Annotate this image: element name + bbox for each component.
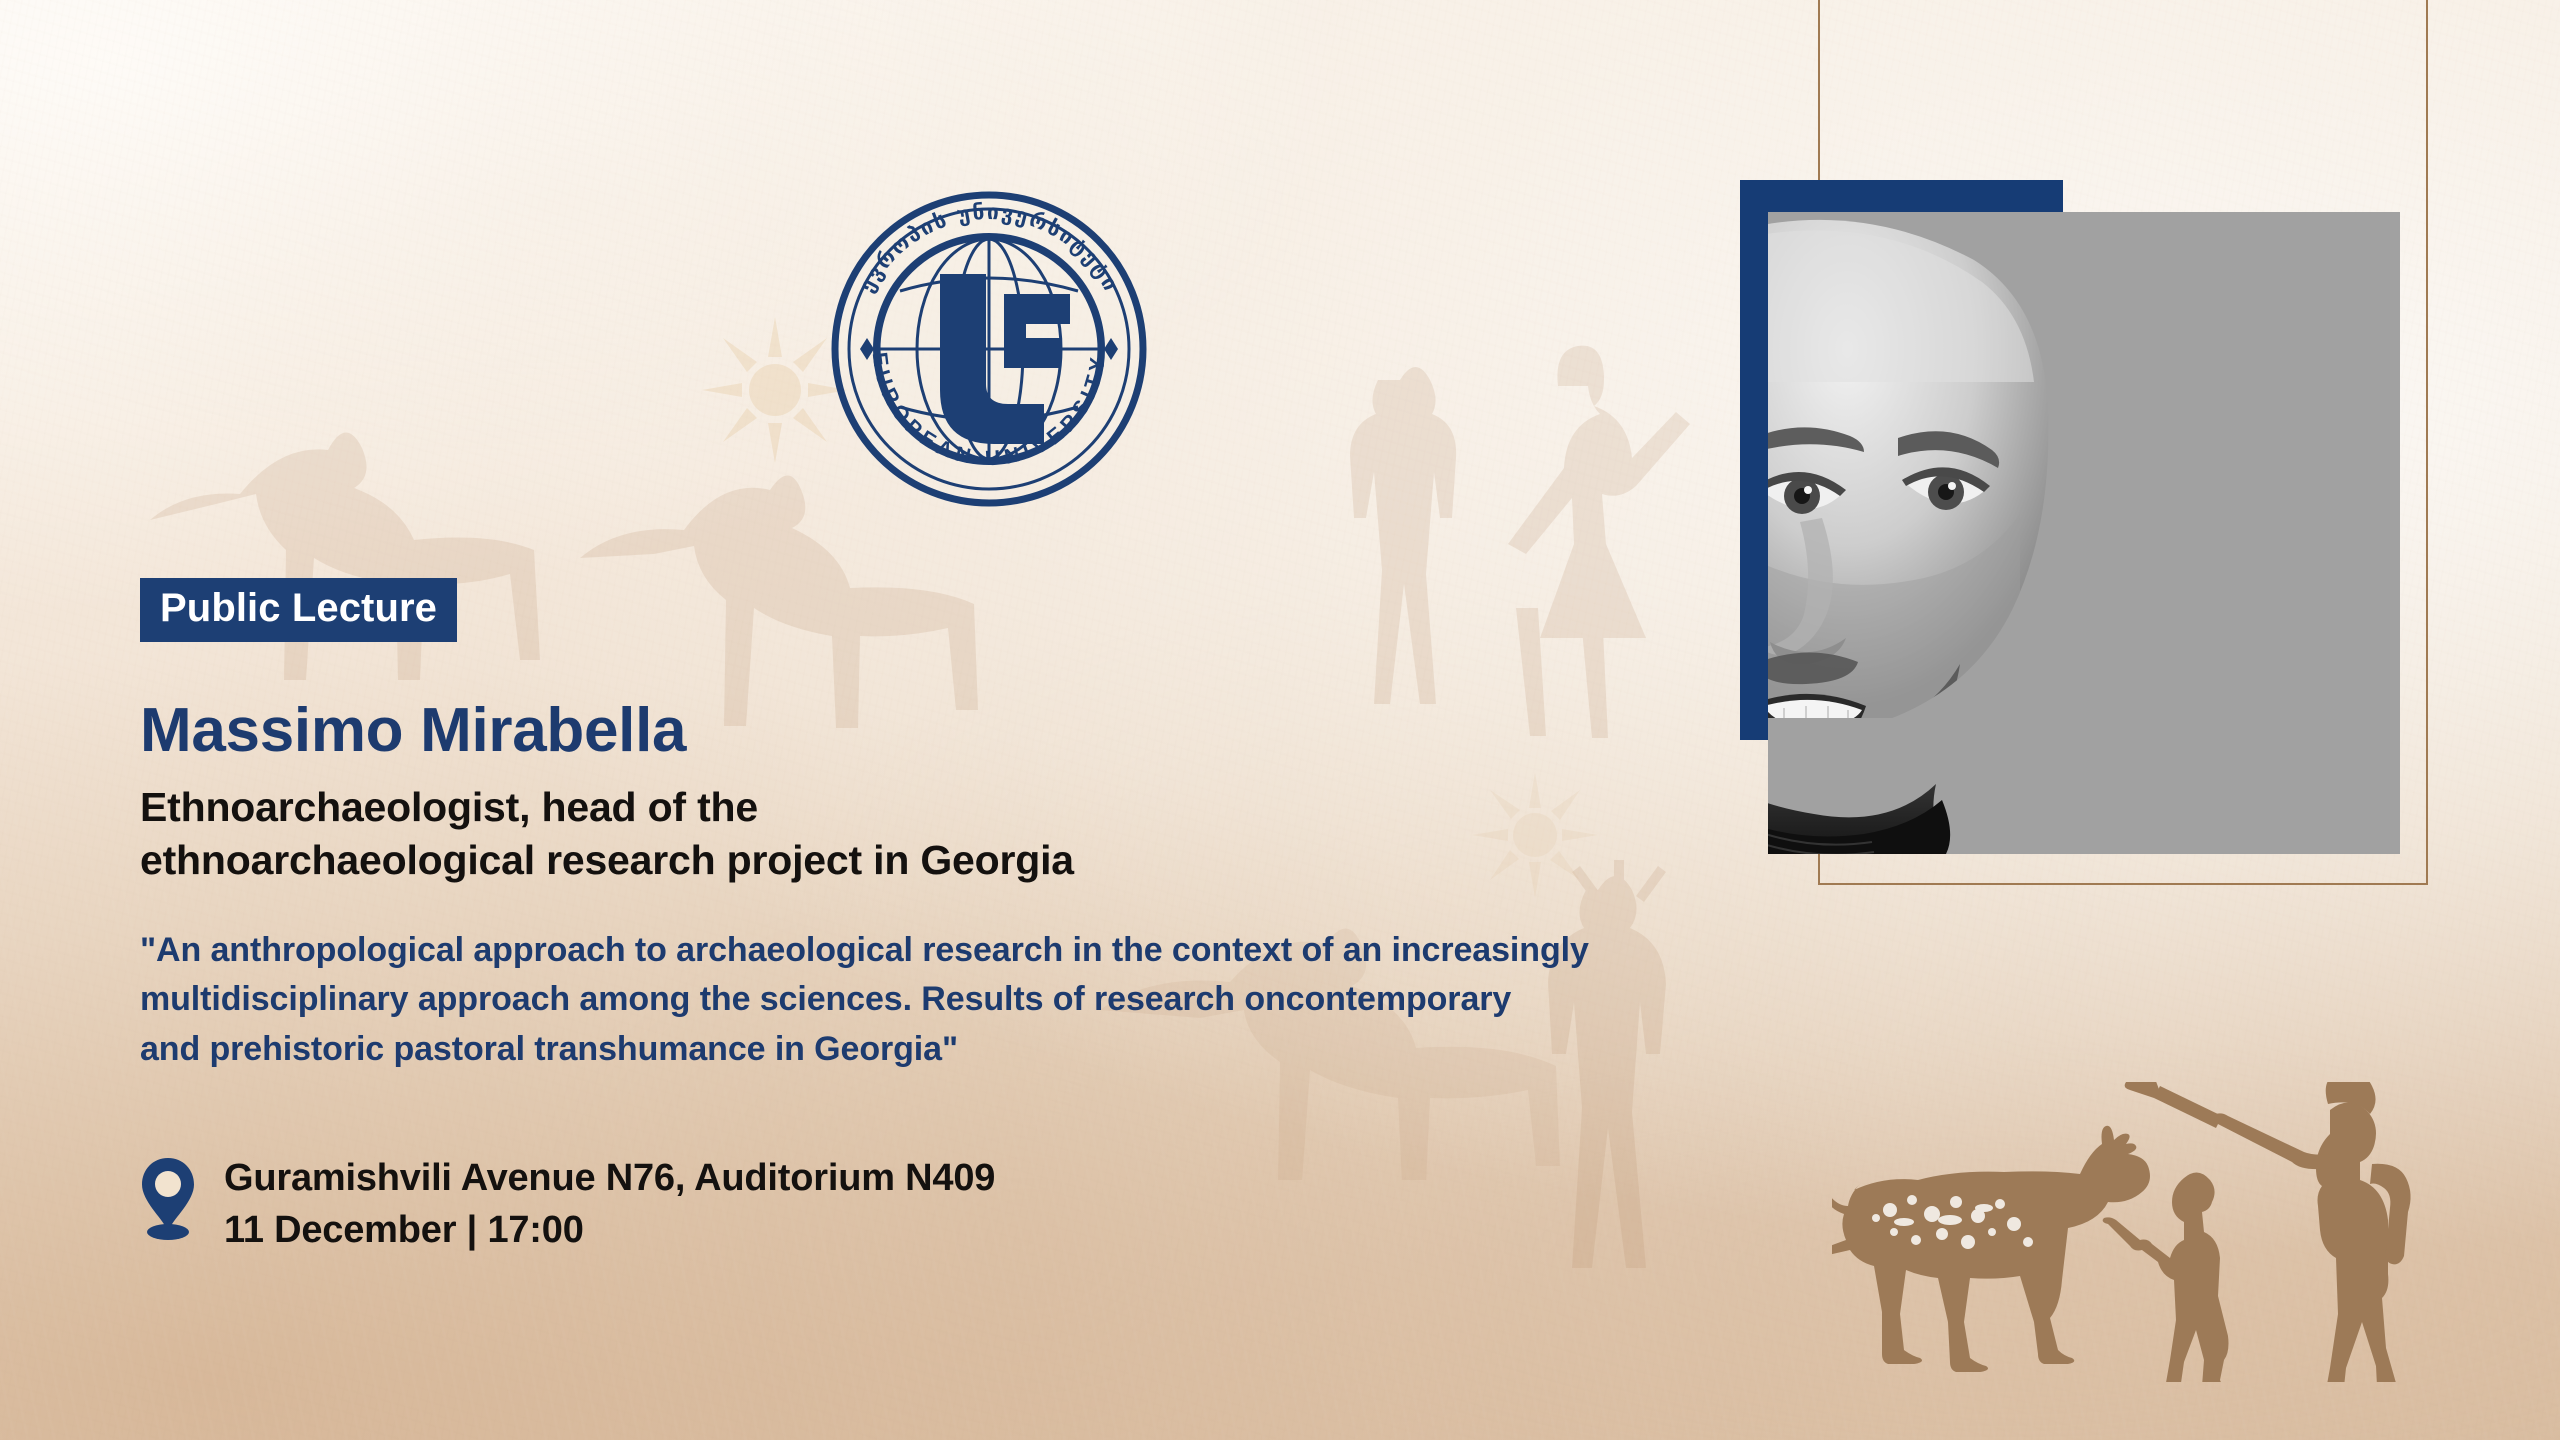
rock-art-small-human-icon	[2103, 1172, 2233, 1382]
poster-content: Public Lecture Massimo Mirabella Ethnoar…	[140, 578, 1900, 1257]
lecture-quote-line-1: "An anthropological approach to archaeol…	[140, 926, 1900, 975]
rock-art-large-human-icon	[2125, 1082, 2416, 1382]
speaker-role: Ethnoarchaeologist, head of the ethnoarc…	[140, 781, 1390, 886]
speaker-name: Massimo Mirabella	[140, 698, 1900, 763]
lecture-quote-line-2: multidisciplinary approach among the sci…	[140, 975, 1900, 1024]
lecture-quote: "An anthropological approach to archaeol…	[140, 926, 1900, 1074]
rock-art-bull-icon	[1832, 1126, 2150, 1372]
rock-art-scene	[1832, 1082, 2450, 1382]
poster-canvas: ევროპის უნივერსიტეტი EUROPEAN UNIVERSITY…	[0, 0, 2560, 1440]
event-venue: Guramishvili Avenue N76, Auditorium N409	[224, 1152, 995, 1204]
public-lecture-badge: Public Lecture	[140, 578, 457, 642]
event-datetime: 11 December | 17:00	[224, 1204, 995, 1256]
event-details: Guramishvili Avenue N76, Auditorium N409…	[140, 1152, 1900, 1257]
lecture-quote-line-3: and prehistoric pastoral transhumance in…	[140, 1025, 1900, 1074]
event-details-text: Guramishvili Avenue N76, Auditorium N409…	[224, 1152, 995, 1257]
european-university-logo: ევროპის უნივერსიტეტი EUROPEAN UNIVERSITY	[828, 188, 1150, 510]
location-pin-icon	[140, 1156, 196, 1242]
speaker-role-line-1: Ethnoarchaeologist, head of the	[140, 781, 1390, 833]
speaker-role-line-2: ethnoarchaeological research project in …	[140, 834, 1390, 886]
